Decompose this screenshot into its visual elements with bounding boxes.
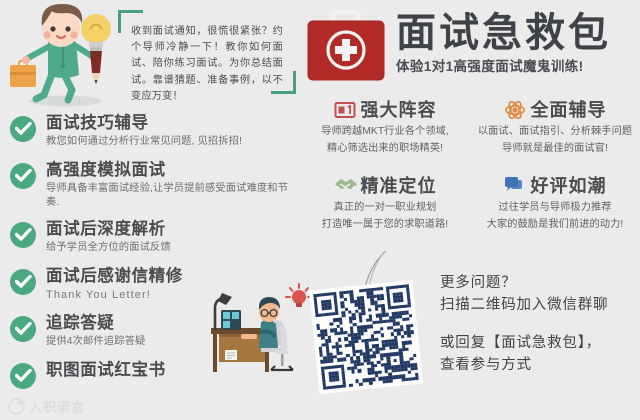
qr-code-image[interactable]: [309, 280, 423, 394]
check-circle-icon: [10, 316, 36, 342]
feature-desc-line1: 导师跨越MKT行业各个领域,: [300, 125, 470, 140]
list-item-sub: 导师具备丰富面试经验,让学员提前感受面试难度和节奏.: [46, 182, 294, 210]
check-circle-icon: [10, 116, 36, 142]
header-title-block: 面试急救包 体验1对1高强度面试魔鬼训练!: [396, 10, 636, 76]
feature-title: 好评如潮: [531, 175, 607, 197]
list-item-title: 面试后深度解析: [46, 219, 294, 240]
watermark: 入职诺言: [8, 397, 85, 416]
feature-desc-line1: 真正的一对一职业规划: [300, 201, 470, 216]
id-card-icon: [334, 99, 356, 121]
page-title: 面试急救包: [396, 10, 636, 56]
page-subtitle: 体验1对1高强度面试魔鬼训练!: [396, 58, 636, 76]
first-aid-kit-icon: [303, 8, 389, 88]
cta-line-2: 扫描二维码加入微信群聊: [440, 294, 640, 316]
handshake-icon: [334, 175, 356, 197]
check-circle-icon: [10, 269, 36, 295]
watermark-text: 入职诺言: [29, 397, 85, 416]
feature-card-great-reviews: 好评如潮 过往学员与导师极力推荐 大家的鼓励是我们前进的动力!: [470, 173, 640, 232]
cta-line-3: 或回复【面试急救包】，: [440, 332, 640, 354]
atom-icon: [504, 99, 526, 121]
list-item: 面试后深度解析 给予学员全方位的面试反馈: [4, 219, 294, 257]
list-item-title: 高强度模拟面试: [46, 160, 294, 181]
cta-text-block: 更多问题？ 扫描二维码加入微信群聊 或回复【面试急救包】， 查看参与方式: [440, 272, 640, 376]
running-man-with-briefcase-and-lightbulb-icon: [8, 2, 123, 110]
feature-desc-line1: 以面试、面试指引、分析棘手问题: [470, 125, 640, 140]
feature-title: 精准定位: [361, 175, 437, 197]
feature-grid: 强大阵容 导师跨越MKT行业各个领域, 精心筛选出来的职场精英! 全面辅导 以面…: [300, 97, 640, 247]
list-item-sub: 给予学员全方位的面试反馈: [46, 241, 294, 255]
feature-card-full-coaching: 全面辅导 以面试、面试指引、分析棘手问题 导师就是最佳的面试官!: [470, 97, 640, 156]
list-item: 高强度模拟面试 导师具备丰富面试经验,让学员提前感受面试难度和节奏.: [4, 160, 294, 210]
feature-desc-line2: 精心筛选出来的职场精英!: [300, 142, 470, 157]
cta-line-1: 更多问题？: [440, 272, 640, 294]
feature-desc-line2: 大家的鼓励是我们前进的动力!: [470, 218, 640, 233]
feature-desc-line2: 导师就是最佳的面试官!: [470, 142, 640, 157]
list-item: 面试技巧辅导 教您如何通过分析行业常见问题, 见招拆招!: [4, 113, 294, 151]
check-circle-icon: [10, 222, 36, 248]
feature-card-strong-team: 强大阵容 导师跨越MKT行业各个领域, 精心筛选出来的职场精英!: [300, 97, 470, 156]
list-item-title: 面试技巧辅导: [46, 113, 294, 134]
feature-card-precise-positioning: 精准定位 真正的一对一职业规划 打造唯一属于您的求职道路!: [300, 173, 470, 232]
check-circle-icon: [10, 163, 36, 189]
poster-root: 收到面试通知，很慌很紧张？约个导师冷静一下！教你如何面试、陪你练习面试。为你总结…: [0, 0, 640, 419]
feature-desc-line2: 打造唯一属于您的求职道路!: [300, 218, 470, 233]
chat-bubbles-icon: [504, 175, 526, 197]
check-circle-icon: [10, 363, 36, 389]
quote-box: 收到面试通知，很慌很紧张？约个导师冷静一下！教你如何面试、陪你练习面试。为你总结…: [118, 10, 296, 94]
feature-title: 强大阵容: [361, 99, 437, 121]
quote-text: 收到面试通知，很慌很紧张？约个导师冷静一下！教你如何面试、陪你练习面试。为你总结…: [131, 24, 283, 105]
cta-line-4: 查看参与方式: [440, 354, 640, 376]
qr-code-tag[interactable]: [300, 255, 435, 395]
feature-title: 全面辅导: [531, 99, 607, 121]
feature-desc-line1: 过往学员与导师极力推荐: [470, 201, 640, 216]
list-item-sub: 教您如何通过分析行业常见问题, 见招拆招!: [46, 135, 294, 149]
brand-logo-icon: [8, 398, 25, 415]
